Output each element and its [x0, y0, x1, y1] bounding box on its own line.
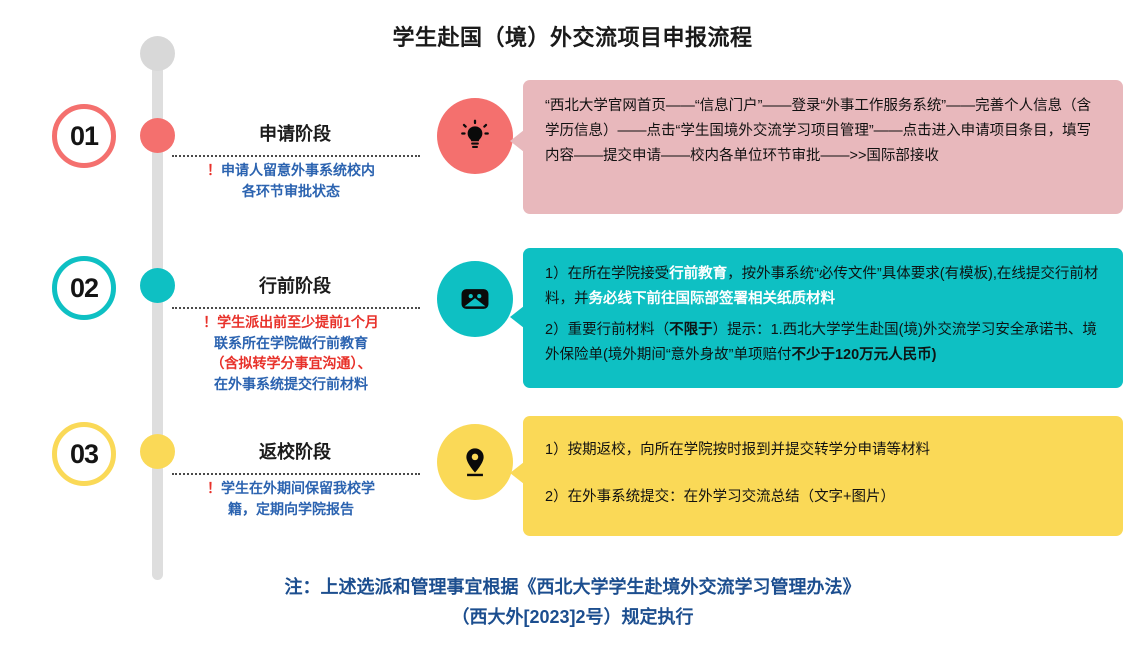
stage-body-text-2-line-1: 1）在所在学院接受行前教育，按外事系统“必传文件”具体要求(有模板),在线提交行…	[545, 262, 1103, 312]
photo-icon	[458, 282, 492, 316]
stage-heading-1: 申请阶段	[170, 120, 420, 146]
stage-note-warning-mark-3: ！	[207, 480, 221, 496]
stage-icon-circle-3	[437, 424, 513, 500]
stage-note-line-3-2: 籍，定期向学院报告	[228, 501, 354, 517]
stage-note-line-2-2: 联系所在学院做行前教育	[214, 335, 368, 351]
s2-b1b: 行前教育	[669, 266, 727, 282]
balloon-pointer-2	[510, 306, 524, 328]
footer-note-line-2: （西大外[2023]2号）规定执行	[0, 603, 1145, 632]
stage-body-text-1: “西北大学官网首页——“信息门户”——登录“外事工作服务系统”——完善个人信息（…	[545, 94, 1103, 169]
stage-content-balloon-1: “西北大学官网首页——“信息门户”——登录“外事工作服务系统”——完善个人信息（…	[523, 80, 1123, 214]
stage-note-line-2-3: （含拟转学分事宜沟通）、	[211, 355, 372, 371]
stage-note-line-1-1: 申请人留意外事系统校内	[221, 162, 375, 178]
stage-heading-2: 行前阶段	[170, 272, 420, 298]
stage-number-badge-2: 02	[52, 256, 116, 320]
stage-note-2: ！学生派出前至少提前1个月 联系所在学院做行前教育 （含拟转学分事宜沟通）、 在…	[160, 312, 422, 395]
s2-b2a: 2）重要行前材料（	[545, 322, 669, 338]
stage-note-line-3-1: 学生在外期间保留我校学	[221, 480, 375, 496]
footer-note-line-1: 注：上述选派和管理事宜根据《西北大学学生赴境外交流学习管理办法》	[0, 573, 1145, 602]
timeline-rail-cap	[140, 36, 175, 71]
stage-divider-3	[172, 473, 420, 475]
stage-divider-1	[172, 155, 420, 157]
balloon-pointer-3	[510, 462, 524, 484]
stage-note-line-2-1: 学生派出前至少提前1个月	[217, 314, 379, 330]
stage-icon-circle-1	[437, 98, 513, 174]
stage-note-3: ！学生在外期间保留我校学 籍，定期向学院报告	[160, 478, 422, 519]
stage-body-text-3-line-1: 1）按期返校，向所在学院按时报到并提交转学分申请等材料	[545, 438, 1103, 463]
stage-icon-circle-2	[437, 261, 513, 337]
stage-content-balloon-3: 1）按期返校，向所在学院按时报到并提交转学分申请等材料 2）在外事系统提交：在外…	[523, 416, 1123, 536]
s2-b1d: 务必线下前往国际部签署相关纸质材料	[589, 291, 836, 307]
stage-content-balloon-2: 1）在所在学院接受行前教育，按外事系统“必传文件”具体要求(有模板),在线提交行…	[523, 248, 1123, 388]
lightbulb-icon	[458, 119, 492, 153]
stage-note-line-2-4: 在外事系统提交行前材料	[214, 376, 368, 392]
stage-body-text-3-line-2: 2）在外事系统提交：在外学习交流总结（文字+图片）	[545, 485, 1103, 510]
stage-body-text-2-line-2: 2）重要行前材料（不限于）提示：1.西北大学学生赴国(境)外交流学习安全承诺书、…	[545, 318, 1103, 368]
stage-divider-2	[172, 307, 420, 309]
stage-note-line-1-2: 各环节审批状态	[242, 183, 340, 199]
s2-b2b: 不限于	[669, 322, 713, 338]
location-pin-icon	[458, 445, 492, 479]
stage-note-1: ！申请人留意外事系统校内 各环节审批状态	[160, 160, 422, 201]
s2-b2d: 不少于120万元人民币)	[791, 347, 936, 363]
stage-number-label-2: 02	[70, 273, 98, 304]
s2-b1a: 1）在所在学院接受	[545, 266, 669, 282]
stage-number-label-3: 03	[70, 439, 98, 470]
stage-note-warning-mark-1: ！	[207, 162, 221, 178]
stage-number-badge-3: 03	[52, 422, 116, 486]
stage-note-warning-mark-2: ！	[203, 314, 217, 330]
balloon-pointer-1	[510, 130, 524, 152]
stage-number-badge-1: 01	[52, 104, 116, 168]
stage-heading-3: 返校阶段	[170, 438, 420, 464]
stage-number-label-1: 01	[70, 121, 98, 152]
